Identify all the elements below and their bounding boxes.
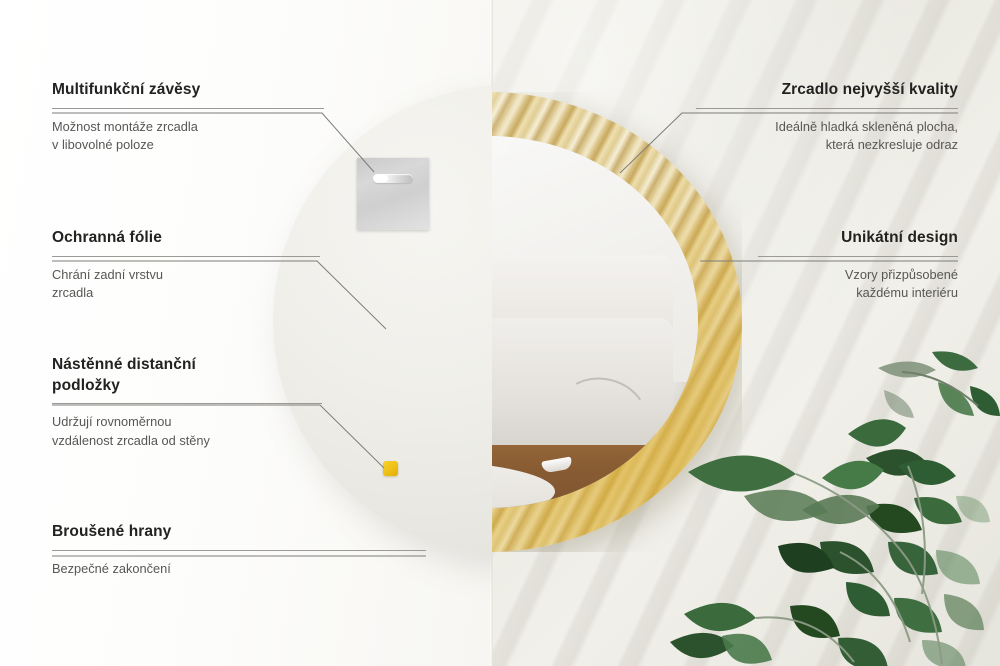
callout-multifunkcni-zavesy: Multifunkční závěsy Možnost montáže zrca…	[52, 80, 324, 155]
wall-spacer-pad	[383, 461, 398, 476]
callout-title: Broušené hrany	[52, 522, 426, 543]
callout-ochranna-folie: Ochranná fólie Chrání zadní vrstvu zrcad…	[52, 228, 320, 303]
callout-title: Multifunkční závěsy	[52, 80, 324, 101]
callout-zrcadlo-nejvyssi-kvality: Zrcadlo nejvyšší kvality Ideálně hladká …	[696, 80, 958, 155]
mirror-back-plain	[273, 85, 492, 555]
callout-rule	[52, 550, 426, 551]
callout-brousene-hrany: Broušené hrany Bezpečné zakončení	[52, 522, 426, 578]
callout-description: Vzory přizpůsobené každému interiéru	[758, 266, 958, 303]
callout-rule	[52, 403, 322, 404]
callout-title: Nástěnné distanční podložky	[52, 355, 322, 396]
callout-description: Chrání zadní vrstvu zrcadla	[52, 266, 320, 303]
wall-hanger-bracket	[357, 158, 429, 230]
mirror-glass-surface	[492, 136, 698, 508]
callout-description: Ideálně hladká skleněná plocha, která ne…	[696, 118, 958, 155]
callout-description: Bezpečné zakončení	[52, 560, 426, 579]
callout-rule	[696, 108, 958, 109]
hanger-keyhole-slot	[373, 174, 413, 183]
callout-rule	[52, 256, 320, 257]
callout-description: Možnost montáže zrcadla v libovolné polo…	[52, 118, 324, 155]
callout-title: Unikátní design	[758, 228, 958, 249]
callout-description: Udržují rovnoměrnou vzdálenost zrcadla o…	[52, 413, 322, 450]
callout-nastenne-distancni-podlozky: Nástěnné distanční podložky Udržují rovn…	[52, 355, 322, 450]
callout-title: Zrcadlo nejvyšší kvality	[696, 80, 958, 101]
mirror-disc	[492, 92, 742, 552]
callout-title: Ochranná fólie	[52, 228, 320, 249]
framed-mirror	[492, 92, 742, 552]
callout-unikatni-design: Unikátní design Vzory přizpůsobené každé…	[758, 228, 958, 303]
callout-rule	[52, 108, 324, 109]
callout-rule	[758, 256, 958, 257]
infographic-stage: Multifunkční závěsy Možnost montáže zrca…	[0, 0, 1000, 666]
